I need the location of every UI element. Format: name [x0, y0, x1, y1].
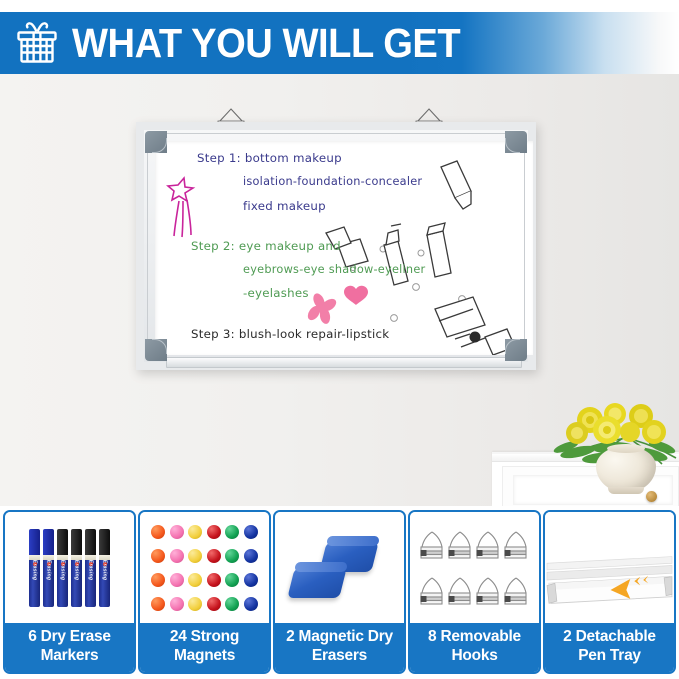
vase-rim	[607, 444, 645, 453]
marker-brand-label: Erasing	[46, 559, 52, 580]
magnet	[244, 549, 258, 563]
feature-label-line1: 2 Magnetic Dry	[277, 628, 402, 646]
flower-doodle	[305, 292, 338, 325]
vase-base	[608, 487, 644, 494]
hook-icon	[475, 576, 502, 606]
feature-label-line2: Erasers	[277, 647, 402, 665]
marker-2: Erasing	[43, 529, 54, 607]
magnet	[188, 525, 202, 539]
marker-brand-label: Erasing	[102, 559, 108, 580]
feature-label-line1: 6 Dry Erase	[7, 628, 132, 646]
magnet	[151, 597, 165, 611]
magnet	[207, 549, 221, 563]
board-line-6: -eyelashes	[243, 286, 309, 300]
board-line-1: Step 1: bottom makeup	[197, 151, 342, 165]
feature-label-line1: 2 Detachable	[547, 628, 672, 646]
board-line-5: eyebrows-eye shadow-eyeliner	[243, 263, 425, 276]
cosmetic-tube-doodle	[326, 161, 515, 355]
magnet	[151, 573, 165, 587]
detachable-pen-tray-image	[545, 512, 674, 623]
magnet	[244, 525, 258, 539]
feature-label-magnets: 24 Strong Magnets	[140, 623, 269, 672]
magnet	[170, 549, 184, 563]
feature-card-hooks[interactable]: 8 Removable Hooks	[408, 510, 541, 674]
frame-corner-bottom-right	[505, 339, 527, 361]
board-line-3: fixed makeup	[243, 199, 326, 213]
hook-icon	[475, 530, 502, 560]
board-line-2: isolation-foundation-concealer	[243, 175, 422, 188]
marker-6: Erasing	[99, 529, 110, 607]
whiteboard-surface[interactable]: Step 1: bottom makeup isolation-foundati…	[155, 141, 533, 355]
feature-card-magnets[interactable]: 24 Strong Magnets	[138, 510, 271, 674]
feature-label-line2: Pen Tray	[547, 647, 672, 665]
magnet	[188, 549, 202, 563]
hook-grid	[410, 512, 539, 623]
marker-brand-label: Erasing	[60, 559, 66, 580]
product-infographic: WHAT YOU WILL GET	[0, 0, 679, 679]
marker-brand-label: Erasing	[88, 559, 94, 580]
magnet	[225, 549, 239, 563]
feature-card-erasers[interactable]: 2 Magnetic Dry Erasers	[273, 510, 406, 674]
feature-label-line1: 8 Removable	[412, 628, 537, 646]
eraser-front	[287, 568, 346, 598]
hook-icon	[447, 576, 474, 606]
mascara-wand-doodle	[470, 332, 481, 343]
feature-label-line2: Magnets	[142, 647, 267, 665]
feature-label-line2: Markers	[7, 647, 132, 665]
marker-brand-label: Erasing	[32, 559, 38, 580]
magnet	[244, 573, 258, 587]
feature-label-markers: 6 Dry Erase Markers	[5, 623, 134, 672]
hook-icon	[447, 530, 474, 560]
marker-4: Erasing	[71, 529, 82, 607]
heart-doodle	[344, 286, 368, 305]
magnet	[170, 597, 184, 611]
magnet	[188, 573, 202, 587]
marker-1: Erasing	[29, 529, 40, 607]
magnet	[188, 597, 202, 611]
marker-brand-label: Erasing	[74, 559, 80, 580]
magnetic-erasers-image	[275, 512, 404, 623]
feature-label-line1: 24 Strong	[142, 628, 267, 646]
magnet	[207, 597, 221, 611]
magnet	[207, 573, 221, 587]
magnet	[207, 525, 221, 539]
hook-icon	[503, 530, 530, 560]
hook-icon	[419, 530, 446, 560]
hook-icon	[419, 576, 446, 606]
frame-corner-top-right	[505, 131, 527, 153]
room-scene: Step 1: bottom makeup isolation-foundati…	[0, 74, 679, 506]
feature-label-pen-tray: 2 Detachable Pen Tray	[545, 623, 674, 672]
feature-label-erasers: 2 Magnetic Dry Erasers	[275, 623, 404, 672]
magnet	[151, 549, 165, 563]
frame-corner-bottom-left	[145, 339, 167, 361]
magnet	[170, 573, 184, 587]
feature-label-line2: Hooks	[412, 647, 537, 665]
feature-card-pen-tray[interactable]: 2 Detachable Pen Tray	[543, 510, 676, 674]
magnet-grid	[140, 512, 269, 623]
marker-5: Erasing	[85, 529, 96, 607]
dry-erase-markers-image: Erasing Erasing Erasing	[5, 512, 134, 623]
banner-title: WHAT YOU WILL GET	[72, 23, 460, 64]
features-strip: Erasing Erasing Erasing	[0, 506, 679, 679]
whiteboard: Step 1: bottom makeup isolation-foundati…	[136, 122, 536, 377]
pen-tray-illustration	[545, 512, 674, 623]
frame-corner-top-left	[145, 131, 167, 153]
marker-3: Erasing	[57, 529, 68, 607]
magnet	[244, 597, 258, 611]
magnet	[225, 525, 239, 539]
header-banner: WHAT YOU WILL GET	[0, 12, 679, 74]
board-line-4: Step 2: eye makeup and	[191, 239, 341, 253]
removable-hooks-image	[410, 512, 539, 623]
magnet	[225, 597, 239, 611]
hook-icon	[503, 576, 530, 606]
magnet	[151, 525, 165, 539]
whiteboard-pen-tray	[166, 357, 522, 368]
flower-arrangement	[544, 392, 679, 502]
magnet	[225, 573, 239, 587]
feature-label-hooks: 8 Removable Hooks	[410, 623, 539, 672]
shooting-star-doodle	[168, 178, 193, 237]
gift-icon	[14, 21, 60, 65]
feature-card-markers[interactable]: Erasing Erasing Erasing	[3, 510, 136, 674]
whiteboard-frame: Step 1: bottom makeup isolation-foundati…	[136, 122, 536, 370]
magnets-image	[140, 512, 269, 623]
board-line-7: Step 3: blush-look repair-lipstick	[191, 327, 389, 341]
magnet	[170, 525, 184, 539]
